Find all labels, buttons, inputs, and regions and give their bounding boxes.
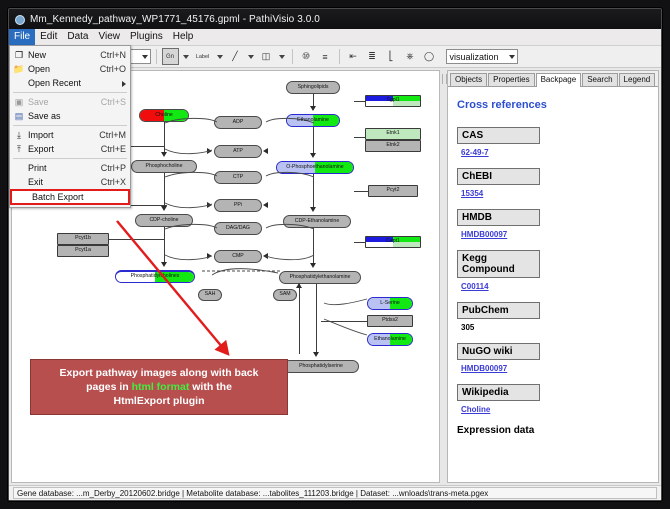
xref-link[interactable]: 15354 (461, 189, 649, 198)
pathway-node-l-serine[interactable]: L-Serine (367, 297, 413, 310)
pathway-node-cept1[interactable]: Cept1 (365, 236, 421, 248)
file-menu-item-accelerator: Ctrl+N (94, 50, 126, 60)
file-menu-item-print[interactable]: PrintCtrl+P (10, 161, 130, 175)
gene-product-dropdown-icon[interactable] (183, 55, 189, 59)
xref-database-name: CAS (457, 127, 540, 144)
file-menu-item-accelerator: Ctrl+P (95, 163, 126, 173)
status-bar: Gene database: ...m_Derby_20120602.bridg… (9, 485, 661, 500)
xref-database-name: Wikipedia (457, 384, 540, 401)
pathway-node-label: L-Serine (380, 301, 400, 306)
pathway-node-label: ADP (233, 120, 244, 125)
visualization-value: visualization (450, 52, 499, 62)
pathway-node-label: Etnk1 (386, 131, 399, 136)
pathway-node-phosphatidylethanolamine[interactable]: Phosphatidylethanolamine (279, 271, 361, 284)
file-menu-item-spacer (10, 162, 28, 175)
file-menu-item-accelerator: Ctrl+O (94, 64, 126, 74)
pathway-arrowhead (161, 262, 167, 267)
pathway-node-label: Choline (155, 113, 173, 118)
chevron-down-icon (142, 55, 148, 59)
pathway-arrowhead (310, 207, 316, 212)
pathway-edge (299, 284, 300, 354)
pathway-edge (316, 284, 317, 354)
label-dropdown-icon[interactable] (217, 55, 223, 59)
xref-link[interactable]: HMDB00097 (461, 364, 649, 373)
file-menu-item-accelerator: Ctrl+X (95, 177, 126, 187)
pathway-node-etnk2[interactable]: Etnk2 (365, 140, 421, 152)
xref-group: PubChem305 (457, 302, 649, 332)
pathway-node-ppi[interactable]: PPi (214, 199, 262, 212)
callout-line-2a: pages in (86, 381, 132, 393)
pathway-node-label: Phosphocholine (146, 164, 183, 169)
pathway-edge (313, 127, 314, 155)
line-button[interactable]: ╱ (227, 48, 244, 65)
pathway-node-label: Phosphatidylserine (299, 364, 343, 369)
pathway-node-label: Sgpl1 (386, 98, 399, 103)
pathway-node-adp[interactable]: ADP (214, 116, 262, 129)
pathway-node-cdp-ethanolamine[interactable]: CDP-Ethanolamine (283, 215, 351, 228)
pathway-node-label: CDP-Ethanolamine (295, 219, 339, 224)
pathway-edge (109, 239, 165, 240)
file-menu-item-batch-export[interactable]: Batch Export (10, 189, 130, 205)
file-menu-item-label: Save (28, 97, 95, 107)
file-menu-item-label: Export (28, 144, 95, 154)
pathway-arrowhead (310, 106, 316, 111)
align-left-button[interactable]: ⇤ (345, 48, 362, 65)
pathway-arrowhead (161, 206, 167, 211)
xref-group: WikipediaCholine (457, 384, 649, 414)
gene-product-button[interactable]: Gn (162, 48, 179, 65)
pathway-node-cdp-choline[interactable]: CDP-choline (135, 214, 193, 227)
file-menu-item-accelerator: Ctrl+E (95, 144, 126, 154)
pathway-node-sam[interactable]: SAM (273, 289, 297, 301)
tab-properties[interactable]: Properties (488, 73, 534, 86)
pathway-edge (321, 321, 367, 322)
pathway-node-label: O-Phosphoethanolamine (286, 165, 343, 170)
file-menu-item-label: Exit (28, 177, 95, 187)
pathway-node-label: Phosphatidylcholines (131, 274, 180, 279)
xref-group: CAS62-49-7 (457, 127, 649, 157)
pathway-node-label: ATP (233, 149, 243, 154)
pathway-node-label: Etnk2 (386, 143, 399, 148)
file-menu-item-open[interactable]: 📁OpenCtrl+O (10, 62, 130, 76)
pathway-node-phosphatidylcholines[interactable]: Phosphatidylcholines (115, 270, 195, 283)
pathway-arrowhead (161, 152, 167, 157)
pathway-node-ethanolamine-low[interactable]: Ethanolamine (367, 333, 413, 346)
xref-database-name: NuGO wiki (457, 343, 540, 360)
pathway-node-cmp[interactable]: CMP (214, 250, 262, 263)
menu-data[interactable]: Data (62, 29, 93, 45)
callout-line-1: Export pathway images along with back (60, 367, 259, 379)
file-menu-separator (13, 158, 127, 159)
menu-view[interactable]: View (93, 29, 125, 45)
new-file-icon: ❐ (10, 49, 28, 62)
file-menu-item-new[interactable]: ❐NewCtrl+N (10, 48, 130, 62)
pathway-node-sphingolipids[interactable]: Sphingolipids (286, 81, 340, 94)
cross-references-heading: Cross references (457, 99, 649, 111)
pathway-node-label: Ethanolamine (374, 337, 406, 342)
pathway-node-label: SAH (205, 292, 216, 297)
status-text: Gene database: ...m_Derby_20120602.bridg… (13, 487, 657, 499)
pathway-node-label: Sphingolipids (298, 85, 329, 90)
line-dropdown-icon[interactable] (248, 55, 254, 59)
pathway-node-label: DAG/DAG (226, 226, 250, 231)
tab-search[interactable]: Search (582, 73, 617, 86)
toolbar-separator-3 (292, 49, 293, 64)
file-menu-item-exit[interactable]: ExitCtrl+X (10, 175, 130, 189)
align-rows-button[interactable]: ≣ (364, 48, 381, 65)
pathway-edge (354, 191, 368, 192)
file-menu-item-accelerator: Ctrl+M (93, 130, 126, 140)
chevron-down-icon (509, 55, 515, 59)
xref-group: ChEBI15354 (457, 168, 649, 198)
pathway-node-phosphocholine[interactable]: Phosphocholine (131, 160, 197, 173)
callout-line-2b: with the (189, 381, 232, 393)
side-panel: Objects Properties Backpage Search Legen… (447, 70, 659, 483)
pathway-node-pcyt1a[interactable]: Pcyt1a (57, 245, 109, 257)
shape-button[interactable]: ◫ (258, 48, 275, 65)
export-icon: ⤒ (10, 143, 28, 156)
pathway-node-label: PPi (234, 203, 242, 208)
pane-splitter[interactable] (440, 68, 447, 485)
pathway-edge (313, 228, 314, 265)
toolbar-separator-4 (339, 49, 340, 64)
pathway-arrowhead (310, 263, 316, 268)
file-menu-item-export[interactable]: ⤒ExportCtrl+E (10, 142, 130, 156)
pathway-node-ctp[interactable]: CTP (214, 171, 262, 184)
toolbar-separator-2 (156, 49, 157, 64)
xref-group: NuGO wikiHMDB00097 (457, 343, 649, 373)
pathway-node-label: Pcyt1b (75, 236, 91, 241)
file-menu-item-open-recent[interactable]: Open Recent (10, 76, 130, 90)
file-menu-item-label: Open Recent (28, 78, 120, 88)
pathway-node-o-phosphoethanolamine[interactable]: O-Phosphoethanolamine (276, 161, 354, 174)
pathway-edge (354, 101, 366, 102)
app-icon (13, 13, 25, 25)
expression-data-heading: Expression data (457, 425, 649, 436)
xref-database-name: HMDB (457, 209, 540, 226)
file-menu-item-spacer (10, 77, 28, 90)
tab-legend[interactable]: Legend (619, 73, 656, 86)
pathway-node-label: SAM (279, 292, 290, 297)
pathway-arrowhead (207, 202, 212, 208)
menu-edit[interactable]: Edit (35, 29, 62, 45)
xref-group: Kegg CompoundC00114 (457, 250, 649, 291)
side-tabstrip: Objects Properties Backpage Search Legen… (448, 71, 658, 87)
menu-help[interactable]: Help (168, 29, 199, 45)
annotation-callout: Export pathway images along with back pa… (30, 359, 288, 415)
pathway-node-label: Pcyt1a (75, 248, 91, 253)
file-menu-item-label: Import (28, 130, 93, 140)
file-menu-item-import[interactable]: ⤓ImportCtrl+M (10, 128, 130, 142)
cross-references-list: CAS62-49-7ChEBI15354HMDBHMDB00097Kegg Co… (457, 127, 649, 414)
pathway-node-label: CMP (232, 254, 244, 259)
pathway-arrowhead (296, 283, 302, 288)
file-menu-item-label: Save as (28, 111, 120, 121)
pathway-node-label: Pcyt2 (387, 188, 400, 193)
xref-group: HMDBHMDB00097 (457, 209, 649, 239)
menu-bar: File Edit Data View Plugins Help (9, 29, 661, 46)
pathway-arrowhead (207, 148, 212, 154)
order-button[interactable]: ◯ (421, 48, 438, 65)
tab-backpage[interactable]: Backpage (536, 73, 582, 87)
shape-dropdown-icon[interactable] (279, 55, 285, 59)
pathway-edge (354, 242, 366, 243)
align-columns-button[interactable]: ⎣ (383, 48, 400, 65)
pathway-arrowhead (310, 153, 316, 158)
window-title: Mm_Kennedy_pathway_WP1771_45176.gpml - P… (30, 14, 320, 25)
pathway-node-pcyt1b[interactable]: Pcyt1b (57, 233, 109, 245)
pathway-node-label: CDP-choline (149, 218, 178, 223)
pathway-node-label: Phosphatidylethanolamine (290, 275, 351, 280)
file-menu-item-spacer (12, 191, 30, 204)
xref-database-name: PubChem (457, 302, 540, 319)
import-icon: ⤓ (10, 129, 28, 142)
pathway-node-choline-top[interactable]: Choline (139, 109, 189, 122)
pathway-edge (164, 122, 165, 154)
pathway-edge (354, 137, 366, 138)
title-bar: Mm_Kennedy_pathway_WP1771_45176.gpml - P… (9, 9, 661, 29)
file-menu-item-accelerator: Ctrl+S (95, 97, 126, 107)
pathway-edge (313, 174, 314, 209)
file-menu-dropdown: ❐NewCtrl+N📁OpenCtrl+OOpen Recent▣SaveCtr… (9, 45, 131, 208)
callout-highlight: html format (132, 381, 190, 393)
pathway-node-dag[interactable]: DAG/DAG (214, 222, 262, 235)
pathway-arrowhead (207, 253, 212, 259)
file-menu-item-spacer (10, 176, 28, 189)
xref-link[interactable]: Choline (461, 405, 649, 414)
xref-link[interactable]: 62-49-7 (461, 148, 649, 157)
menu-plugins[interactable]: Plugins (125, 29, 168, 45)
menu-file[interactable]: File (9, 29, 35, 45)
screenshot-root: Mm_Kennedy_pathway_WP1771_45176.gpml - P… (0, 0, 670, 509)
pathway-node-label: Ptdss2 (382, 318, 398, 323)
file-menu-item-save[interactable]: ▣SaveCtrl+S (10, 95, 130, 109)
xref-link[interactable]: C00114 (461, 282, 649, 291)
folder-icon: 📁 (10, 63, 28, 76)
file-menu-item-label: New (28, 50, 94, 60)
pathway-node-phosphatidylserine[interactable]: Phosphatidylserine (283, 360, 359, 373)
file-menu-item-label: Batch Export (30, 192, 118, 202)
file-menu-item-label: Open (28, 64, 94, 74)
save-as-icon: ▤ (10, 110, 28, 123)
tab-objects[interactable]: Objects (450, 73, 487, 86)
xref-link[interactable]: HMDB00097 (461, 230, 649, 239)
file-menu-separator (13, 125, 127, 126)
pathway-node-label: CTP (233, 175, 243, 180)
pathway-arrowhead (263, 148, 268, 154)
pathway-edge (164, 173, 165, 208)
pathway-node-label: Cept1 (386, 239, 400, 244)
group-button[interactable]: ⎈ (402, 48, 419, 65)
xref-database-name: ChEBI (457, 168, 540, 185)
pathway-node-atp[interactable]: ATP (214, 145, 262, 158)
anchor-button[interactable]: ⑩ (298, 48, 315, 65)
pathway-node-sgpl1[interactable]: Sgpl1 (365, 95, 421, 107)
file-menu-item-label: Print (28, 163, 95, 173)
xref-database-name: Kegg Compound (457, 250, 540, 278)
pathway-node-ptdss2[interactable]: Ptdss2 (367, 315, 413, 327)
visualization-combo[interactable]: visualization (446, 49, 518, 64)
pathway-node-sah[interactable]: SAH (198, 289, 222, 301)
pathway-node-etnk1[interactable]: Etnk1 (365, 128, 421, 140)
pathway-node-label: Ethanolamine (297, 118, 329, 123)
backpage-content: Cross references CAS62-49-7ChEBI15354HMD… (448, 87, 658, 482)
pathway-node-pcyt2[interactable]: Pcyt2 (368, 185, 418, 197)
pathway-edge (164, 227, 165, 264)
label-button[interactable]: Label (193, 48, 213, 65)
pathway-arrowhead (263, 253, 268, 259)
callout-line-3: HtmlExport plugin (114, 395, 205, 407)
pathway-node-ethanolamine-top[interactable]: Ethanolamine (286, 114, 340, 127)
file-menu-separator (13, 92, 127, 93)
xref-value: 305 (461, 323, 649, 332)
pathway-arrowhead (263, 202, 268, 208)
file-menu-item-save-as[interactable]: ▤Save as (10, 109, 130, 123)
align-center-button[interactable]: ≡ (317, 48, 334, 65)
pathway-arrowhead (313, 352, 319, 357)
save-icon: ▣ (10, 96, 28, 109)
